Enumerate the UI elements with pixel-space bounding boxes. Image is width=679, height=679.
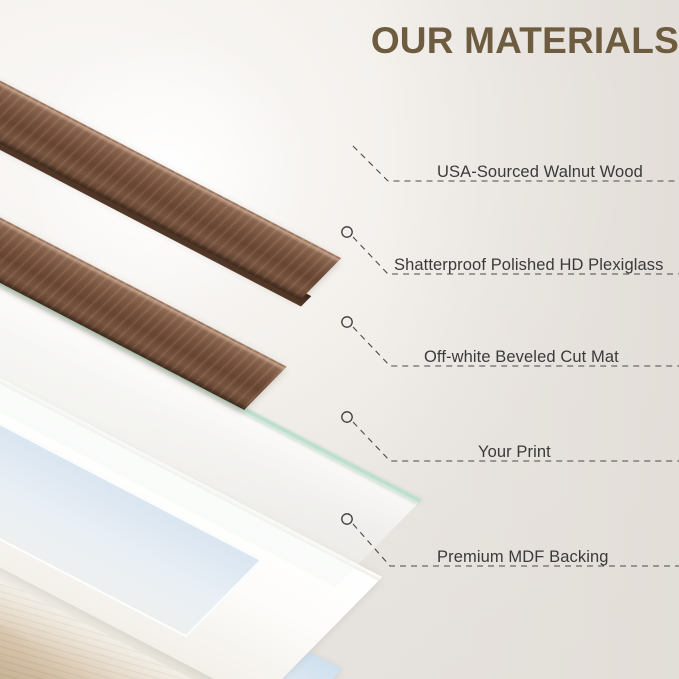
- callout-label-print: Your Print: [478, 443, 551, 462]
- callout-label-plexiglass: Shatterproof Polished HD Plexiglass: [394, 256, 663, 275]
- background-right-shade: [379, 0, 679, 679]
- callout-label-mdf-backing: Premium MDF Backing: [437, 548, 609, 567]
- page-title: OUR MATERIALS: [360, 20, 679, 62]
- callout-label-mat: Off-white Beveled Cut Mat: [424, 348, 619, 367]
- infographic-canvas: OUR MATERIALS USA-Sourced Walnut WoodSha…: [0, 0, 679, 679]
- callout-label-walnut-wood: USA-Sourced Walnut Wood: [437, 163, 643, 182]
- product-layer-stack: [0, 0, 400, 679]
